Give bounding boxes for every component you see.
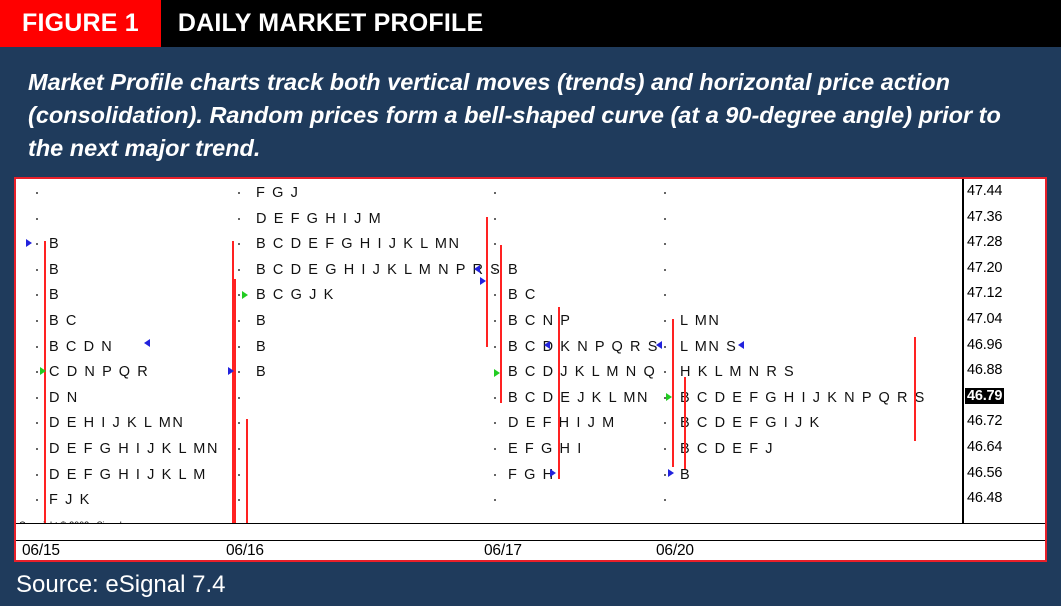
price-row-tick bbox=[664, 294, 666, 296]
tpo-letter-row: B bbox=[256, 339, 267, 355]
tpo-letter-row: D E H I J K L MN bbox=[49, 415, 184, 431]
price-row-tick bbox=[494, 448, 496, 450]
tpo-letter-row: F G H bbox=[508, 467, 555, 483]
price-row-tick bbox=[238, 320, 240, 322]
price-row-tick bbox=[238, 269, 240, 271]
price-row-tick bbox=[664, 371, 666, 373]
tpo-plot-area: BBBB CB C D NC D N P Q RD ND E H I J K L… bbox=[16, 179, 962, 523]
tpo-letter-row: B C D E F G H I J K N P Q R S bbox=[680, 390, 926, 406]
session-range-bar bbox=[486, 217, 488, 347]
price-row-tick bbox=[36, 243, 38, 245]
price-row-tick bbox=[664, 499, 666, 501]
price-row-tick bbox=[664, 320, 666, 322]
price-row-tick bbox=[36, 499, 38, 501]
tpo-letter-row: F G J bbox=[256, 185, 299, 201]
price-row-tick bbox=[664, 422, 666, 424]
figure-root: FIGURE 1 DAILY MARKET PROFILE Market Pro… bbox=[0, 0, 1061, 606]
price-row-tick bbox=[494, 218, 496, 220]
session-range-bar bbox=[558, 307, 560, 479]
blue-arrow-marker bbox=[228, 367, 234, 375]
price-row-tick bbox=[36, 269, 38, 271]
price-row-tick bbox=[664, 474, 666, 476]
price-axis-current-label: 46.79 bbox=[965, 388, 1004, 404]
tpo-letter-row: B C D N bbox=[49, 339, 113, 355]
tpo-letter-row: B C D E G H I J K L M N P R S bbox=[256, 262, 501, 278]
price-row-tick bbox=[494, 346, 496, 348]
tpo-letter-row: D E F H I J M bbox=[508, 415, 616, 431]
tpo-letter-row: D E F G H I J K L MN bbox=[49, 441, 219, 457]
tpo-letter-row: B C bbox=[49, 313, 78, 329]
blue-arrow-marker bbox=[738, 341, 744, 349]
date-axis-label: 06/20 bbox=[656, 542, 694, 560]
price-row-tick bbox=[494, 474, 496, 476]
tpo-letter-row: B bbox=[508, 262, 519, 278]
price-row-tick bbox=[36, 448, 38, 450]
price-row-tick bbox=[494, 192, 496, 194]
tpo-letter-row: H K L M N R S bbox=[680, 364, 795, 380]
price-axis-label: 47.20 bbox=[967, 260, 1002, 276]
green-arrow-marker bbox=[242, 291, 248, 299]
blue-arrow-marker bbox=[26, 239, 32, 247]
tpo-letter-row: B bbox=[256, 364, 267, 380]
tpo-letter-row: B C D E F J bbox=[680, 441, 774, 457]
price-row-tick bbox=[664, 448, 666, 450]
price-row-tick bbox=[36, 346, 38, 348]
session-range-bar bbox=[234, 279, 236, 523]
session-range-bar bbox=[500, 245, 502, 403]
price-row-tick bbox=[36, 294, 38, 296]
blue-arrow-marker bbox=[668, 469, 674, 477]
price-axis-label: 47.44 bbox=[967, 183, 1002, 199]
tpo-letter-row: L MN S bbox=[680, 339, 737, 355]
tpo-letter-row: D N bbox=[49, 390, 79, 406]
price-axis-label: 47.36 bbox=[967, 209, 1002, 225]
price-row-tick bbox=[664, 243, 666, 245]
tpo-letter-row: B bbox=[49, 287, 60, 303]
price-row-tick bbox=[238, 294, 240, 296]
price-row-tick bbox=[238, 346, 240, 348]
price-row-tick bbox=[494, 294, 496, 296]
tpo-letter-row: B C D E F G H I J K L MN bbox=[256, 236, 461, 252]
price-axis-label: 46.72 bbox=[967, 413, 1002, 429]
price-row-tick bbox=[36, 397, 38, 399]
blue-arrow-marker bbox=[656, 341, 662, 349]
price-row-tick bbox=[494, 269, 496, 271]
price-row-tick bbox=[238, 499, 240, 501]
green-arrow-marker bbox=[40, 367, 46, 375]
tpo-letter-row: B bbox=[256, 313, 267, 329]
price-row-tick bbox=[238, 448, 240, 450]
price-row-tick bbox=[494, 243, 496, 245]
price-row-tick bbox=[36, 371, 38, 373]
tpo-letter-row: B bbox=[49, 262, 60, 278]
price-row-tick bbox=[238, 192, 240, 194]
green-arrow-marker bbox=[494, 369, 500, 377]
date-axis-label: 06/16 bbox=[226, 542, 264, 560]
tpo-letter-row: D E F G H I J K L M bbox=[49, 467, 207, 483]
tpo-letter-row: B C D J K L M N Q bbox=[508, 364, 656, 380]
price-row-tick bbox=[36, 192, 38, 194]
price-axis-label: 47.28 bbox=[967, 234, 1002, 250]
price-axis-label: 47.04 bbox=[967, 311, 1002, 327]
tpo-letter-row: L MN bbox=[680, 313, 721, 329]
price-row-tick bbox=[238, 371, 240, 373]
price-row-tick bbox=[494, 397, 496, 399]
price-row-tick bbox=[238, 243, 240, 245]
tpo-letter-row: B C D E J K L MN bbox=[508, 390, 649, 406]
tpo-letter-row: B C G J K bbox=[256, 287, 335, 303]
session-range-bar bbox=[44, 241, 46, 523]
blue-arrow-marker bbox=[544, 341, 550, 349]
price-row-tick bbox=[494, 499, 496, 501]
blue-arrow-marker bbox=[144, 339, 150, 347]
tpo-letter-row: B bbox=[49, 236, 60, 252]
session-range-bar bbox=[914, 337, 916, 441]
market-profile-chart: BBBB CB C D NC D N P Q RD ND E H I J K L… bbox=[14, 177, 1047, 562]
figure-title: DAILY MARKET PROFILE bbox=[161, 0, 483, 47]
price-row-tick bbox=[664, 269, 666, 271]
price-axis-label: 46.64 bbox=[967, 439, 1002, 455]
tpo-letter-row: B C D K N P Q R S bbox=[508, 339, 659, 355]
price-row-tick bbox=[36, 474, 38, 476]
figure-caption: Market Profile charts track both vertica… bbox=[0, 47, 1061, 175]
green-arrow-marker bbox=[666, 393, 672, 401]
price-row-tick bbox=[238, 397, 240, 399]
tpo-letter-row: B C N P bbox=[508, 313, 572, 329]
tpo-letter-row: F J K bbox=[49, 492, 91, 508]
price-row-tick bbox=[238, 474, 240, 476]
tpo-letter-row: D E F G H I J M bbox=[256, 211, 382, 227]
session-range-bar bbox=[246, 419, 248, 523]
tpo-letter-row: C D N P Q R bbox=[49, 364, 149, 380]
tpo-letter-row: E F G H I bbox=[508, 441, 583, 457]
price-axis-label: 46.88 bbox=[967, 362, 1002, 378]
blue-arrow-marker bbox=[550, 469, 556, 477]
date-axis-label: 06/17 bbox=[484, 542, 522, 560]
price-row-tick bbox=[664, 192, 666, 194]
price-row-tick bbox=[238, 422, 240, 424]
price-axis-label: 46.56 bbox=[967, 465, 1002, 481]
price-axis: 47.4447.3647.2847.2047.1247.0446.9646.88… bbox=[962, 179, 1045, 523]
figure-caption-text: Market Profile charts track both vertica… bbox=[28, 66, 1033, 165]
blue-arrow-marker bbox=[474, 265, 480, 273]
price-row-tick bbox=[238, 218, 240, 220]
tpo-letter-row: B C bbox=[508, 287, 537, 303]
tpo-letter-row: B C D E F G I J K bbox=[680, 415, 821, 431]
figure-header-bar: FIGURE 1 DAILY MARKET PROFILE bbox=[0, 0, 1061, 47]
session-range-bar bbox=[672, 319, 674, 467]
date-axis: 06/1506/1606/1706/20 bbox=[16, 523, 1045, 560]
date-axis-rule bbox=[16, 540, 1045, 541]
price-row-tick bbox=[664, 218, 666, 220]
session-range-bar bbox=[684, 377, 686, 469]
price-row-tick bbox=[494, 422, 496, 424]
price-axis-label: 46.96 bbox=[967, 337, 1002, 353]
price-row-tick bbox=[36, 422, 38, 424]
price-axis-label: 47.12 bbox=[967, 285, 1002, 301]
price-row-tick bbox=[36, 218, 38, 220]
price-row-tick bbox=[494, 320, 496, 322]
source-bar: Source: eSignal 7.4 bbox=[0, 564, 1061, 606]
price-axis-label: 46.48 bbox=[967, 490, 1002, 506]
date-axis-label: 06/15 bbox=[22, 542, 60, 560]
source-label: Source: eSignal 7.4 bbox=[16, 571, 225, 599]
figure-number-tag: FIGURE 1 bbox=[0, 0, 161, 47]
chart-inner: BBBB CB C D NC D N P Q RD ND E H I J K L… bbox=[16, 179, 1045, 560]
price-row-tick bbox=[36, 320, 38, 322]
blue-arrow-marker bbox=[480, 277, 486, 285]
price-row-tick bbox=[664, 346, 666, 348]
